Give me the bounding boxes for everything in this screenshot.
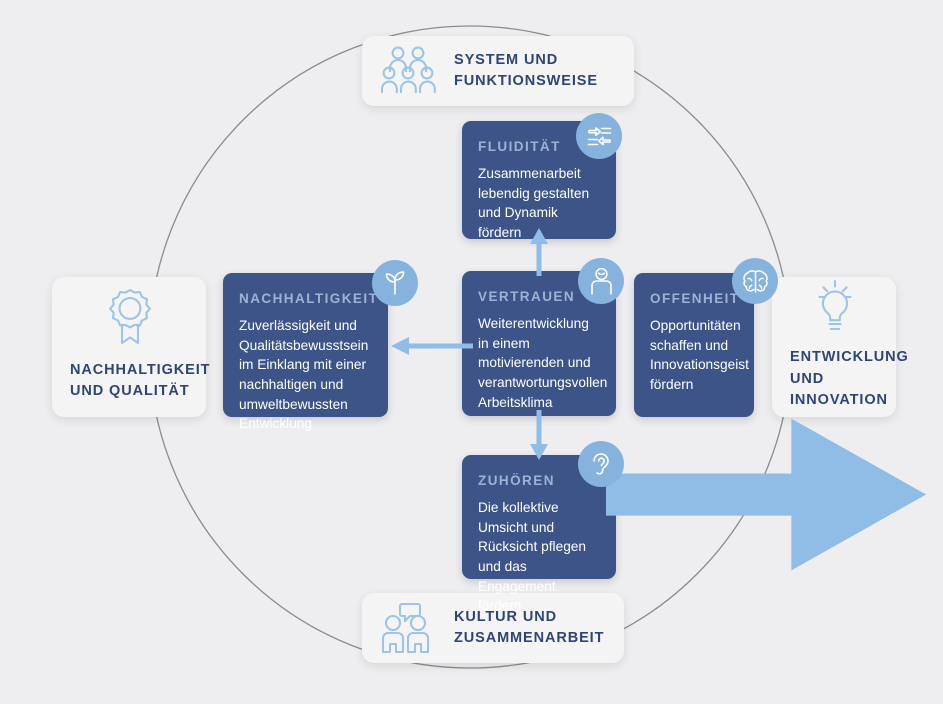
- value-card-body-nachhaltigkeit: Zuverlässigkeit und Qualitätsbewusstsein…: [239, 316, 370, 434]
- award-ribbon-icon: [104, 288, 156, 346]
- value-card-nachhaltigkeit[interactable]: NACHHALTIGKEIT Zuverlässigkeit und Quali…: [223, 273, 388, 417]
- value-card-body-zuhoeren: Die kollektive Umsicht und Rücksicht pfl…: [478, 498, 598, 616]
- brain-icon: [742, 269, 769, 294]
- value-card-body-vertrauen: Weiterentwicklung in einem motivierenden…: [478, 314, 598, 412]
- outer-card-label-nachhaltigkeit-qualitaet: NACHHALTIGKEITUND QUALITÄT: [70, 360, 210, 402]
- value-card-title-offenheit: OFFENHEIT: [650, 291, 736, 307]
- value-card-title-nachhaltigkeit: NACHHALTIGKEIT: [239, 291, 370, 307]
- people-speech-bubble-icon: [380, 602, 438, 654]
- badge-ear[interactable]: [578, 441, 624, 487]
- badge-person-smiley[interactable]: [578, 258, 624, 304]
- exchange-arrows-icon: [586, 124, 613, 149]
- arrow-vertrauen-to-zuhoeren: [503, 410, 575, 462]
- arrow-vertrauen-to-fluiditaet: [503, 226, 575, 276]
- ear-icon: [590, 451, 612, 478]
- badge-brain[interactable]: [732, 258, 778, 304]
- badge-plant-sprout[interactable]: [372, 260, 418, 306]
- outer-card-label-system: SYSTEM UNDFUNKTIONSWEISE: [454, 50, 598, 92]
- plant-sprout-icon: [382, 270, 408, 296]
- badge-exchange-arrows[interactable]: [576, 113, 622, 159]
- arrow-vertrauen-to-offenheit: [606, 326, 943, 663]
- outer-card-system-und-funktionsweise[interactable]: SYSTEM UNDFUNKTIONSWEISE: [362, 36, 634, 106]
- outer-card-nachhaltigkeit-und-qualitaet[interactable]: NACHHALTIGKEITUND QUALITÄT: [52, 277, 206, 417]
- diagram-canvas: SYSTEM UNDFUNKTIONSWEISE NACHHALTIGKEITU…: [0, 0, 943, 704]
- group-of-people-icon: [380, 45, 438, 97]
- person-smiley-icon: [589, 268, 614, 295]
- arrow-vertrauen-to-nachhaltigkeit: [385, 326, 473, 366]
- value-card-title-zuhoeren: ZUHÖREN: [478, 473, 598, 489]
